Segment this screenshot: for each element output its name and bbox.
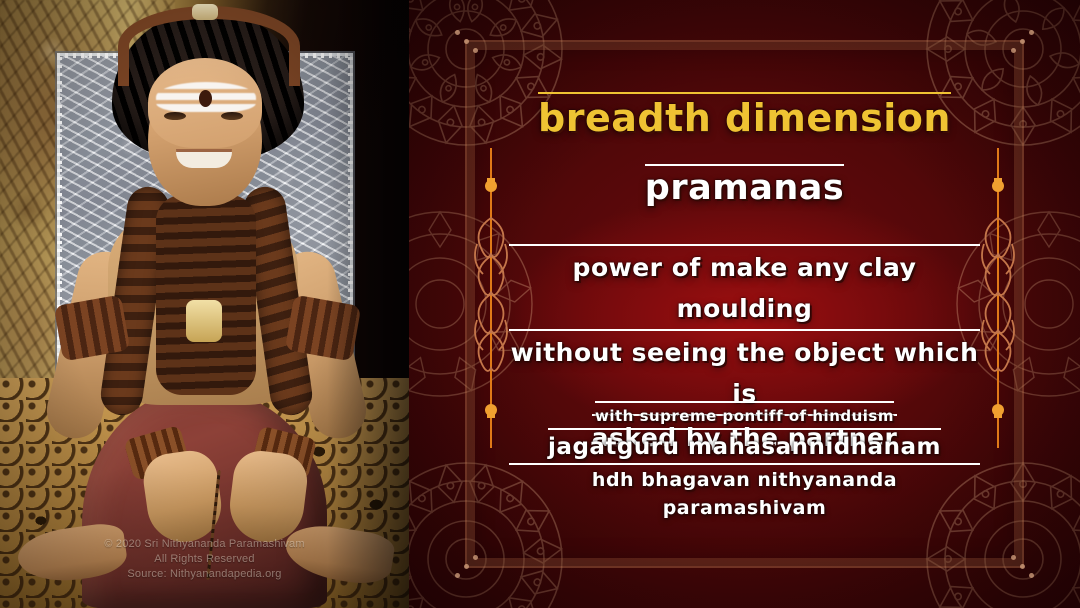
credit-line-2: jagatguru mahasannidhanam [548, 428, 941, 463]
headline: breadth dimension [538, 92, 951, 140]
smile [176, 152, 232, 168]
subheadline: pramanas [645, 164, 844, 208]
filigree-icon-left [469, 148, 513, 448]
slide-canvas: © 2020 Sri Nithyananda Paramashivam All … [0, 0, 1080, 608]
text-panel: breadth dimension pramanas power of make… [409, 0, 1080, 608]
crown-jewel [192, 4, 218, 20]
credit-line-3: hdh bhagavan nithyananda paramashivam [509, 463, 980, 522]
credit-block: with supreme pontiff of hinduism jagatgu… [509, 401, 980, 522]
armband-right [285, 295, 362, 362]
guru-photo: © 2020 Sri Nithyananda Paramashivam All … [0, 0, 409, 608]
armband-left [54, 295, 131, 362]
credit-line-1: with supreme pontiff of hinduism [595, 401, 894, 428]
bindu-icon [199, 90, 212, 107]
body-line-1: power of make any clay moulding [509, 244, 980, 329]
gold-pendant [186, 300, 222, 342]
rudraksha-mala-center [156, 195, 256, 395]
eye-left [164, 112, 186, 120]
filigree-icon-right [976, 148, 1020, 448]
panel-content: breadth dimension pramanas power of make… [509, 0, 980, 608]
eye-right [221, 112, 243, 120]
